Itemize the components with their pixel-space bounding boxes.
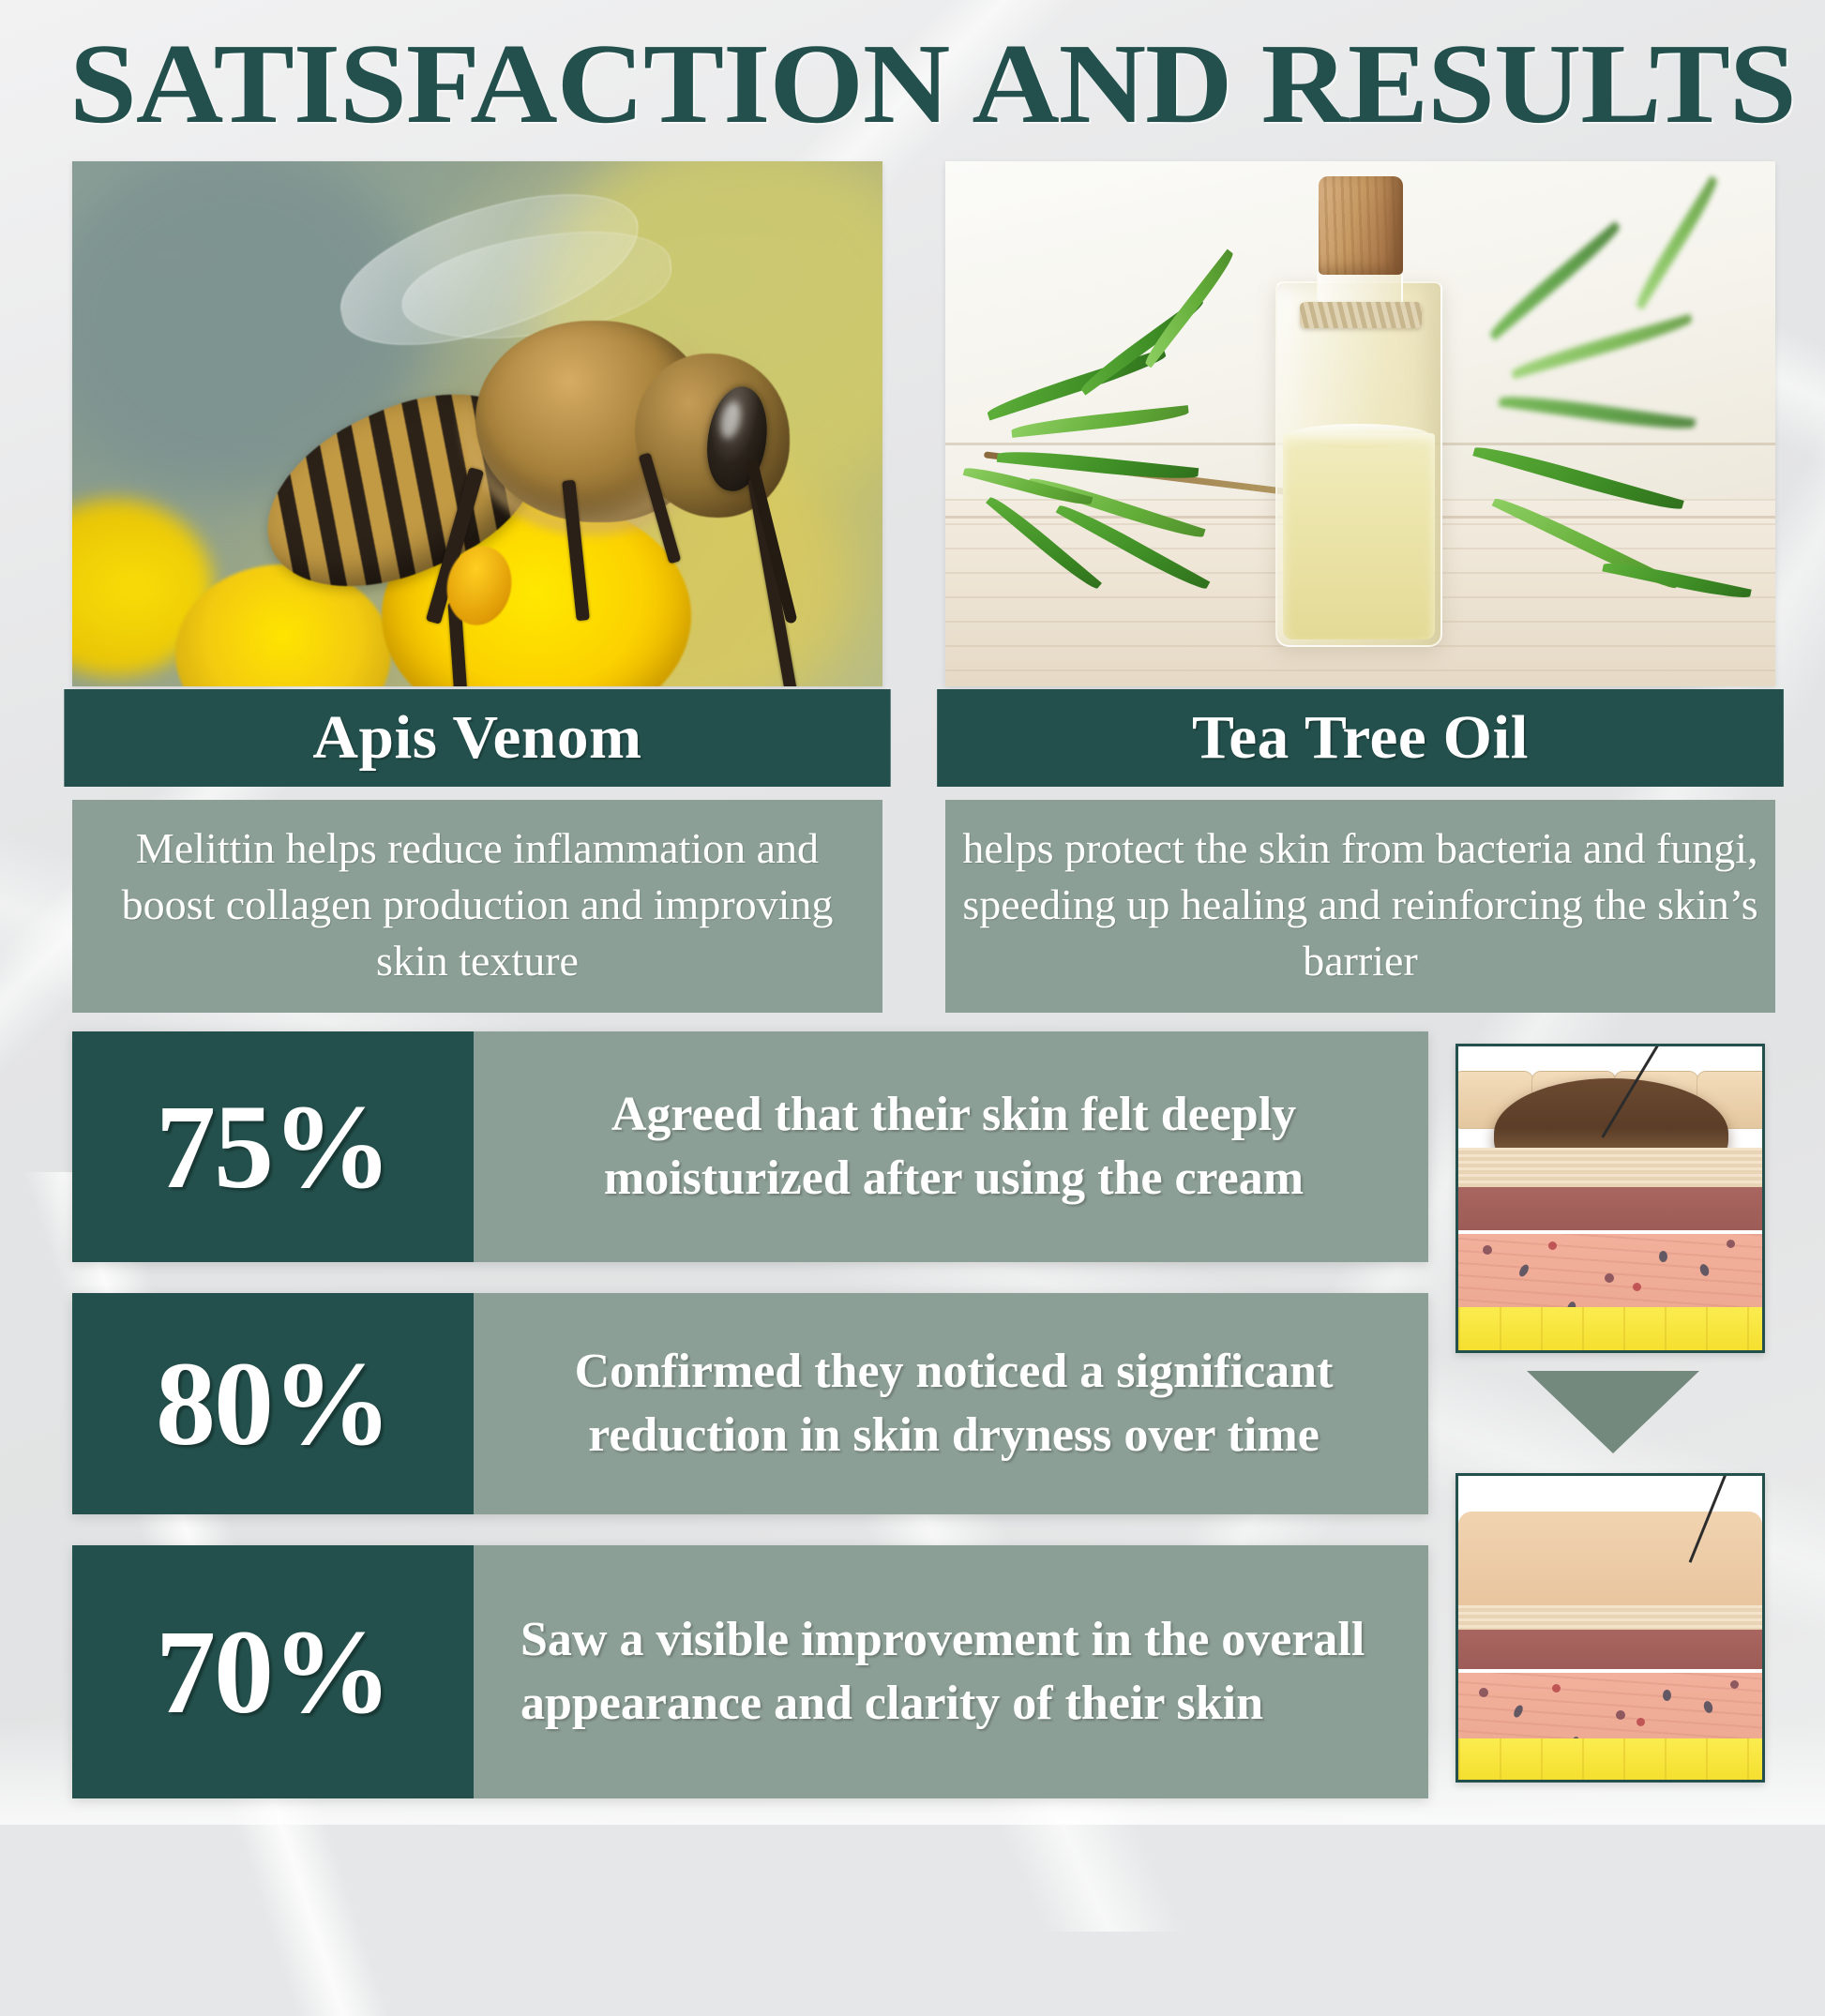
card-description-apis-venom: Melittin helps reduce inflammation and b… (72, 800, 882, 1013)
skin-capillary-dot (1636, 1718, 1645, 1726)
skin-capillary-dot (1483, 1245, 1492, 1255)
stat-percent-value: 70% (72, 1545, 474, 1798)
bee-illustration (260, 264, 785, 574)
tea-leaf-12 (1499, 391, 1696, 433)
stat-row: 75% Agreed that their skin felt deeply m… (72, 1031, 1428, 1262)
stat-row: 70% Saw a visible improvement in the ove… (72, 1545, 1428, 1798)
oil-liquid (1283, 433, 1435, 639)
skin-subcutaneous-fat (1458, 1738, 1762, 1780)
down-arrow-icon (1527, 1371, 1699, 1453)
skin-dermis-layer (1458, 1630, 1762, 1669)
skin-deep-dermis (1458, 1673, 1762, 1744)
infographic-root: SATISFACTION AND RESULTS (0, 0, 1825, 1825)
skin-epidermis-smooth (1458, 1512, 1762, 1613)
bee-photo (72, 161, 882, 686)
stat-description: Agreed that their skin felt deeply moist… (474, 1031, 1428, 1262)
card-description-tea-tree-oil: helps protect the skin from bacteria and… (945, 800, 1775, 1013)
skin-capillary-dot (1730, 1680, 1739, 1689)
skin-capillary-dot (1727, 1240, 1735, 1248)
skin-dermis-layer (1458, 1187, 1762, 1230)
skin-capillary-dot (1633, 1283, 1641, 1291)
tea-leaf-7 (1140, 249, 1237, 369)
card-title-apis-venom: Apis Venom (64, 689, 890, 787)
ingredient-card-tea-tree-oil: Tea Tree Oil helps protect the skin from… (945, 161, 1775, 1013)
stat-percent-value: 80% (72, 1293, 474, 1514)
ingredient-card-apis-venom: Apis Venom Melittin helps reduce inflamm… (72, 161, 882, 1013)
skin-capillary-dot (1616, 1710, 1625, 1720)
twine-wrap (1300, 302, 1422, 328)
tea-leaf-2 (1011, 405, 1190, 438)
page-title: SATISFACTION AND RESULTS (69, 32, 1825, 137)
tea-tree-oil-photo (945, 161, 1775, 686)
tea-leaf-10 (1486, 221, 1624, 340)
card-title-tea-tree-oil: Tea Tree Oil (937, 689, 1784, 787)
skin-capillary-dot (1605, 1273, 1614, 1283)
skin-diagram-after (1455, 1473, 1765, 1783)
skin-capillary-dot (1479, 1688, 1488, 1697)
stat-percent-value: 75% (72, 1031, 474, 1262)
oil-bottle (1275, 281, 1442, 647)
stat-row: 80% Confirmed they noticed a significant… (72, 1293, 1428, 1514)
stat-description: Confirmed they noticed a significant red… (474, 1293, 1428, 1514)
skin-capillary-dot (1659, 1251, 1667, 1262)
oil-surface-line (1287, 424, 1431, 448)
skin-diagram-before (1455, 1044, 1765, 1353)
skin-capillary-dot (1552, 1684, 1561, 1693)
skin-stratum-corneum (1458, 1148, 1762, 1189)
cork-stopper (1319, 176, 1403, 275)
skin-capillary-dot (1663, 1690, 1671, 1701)
tea-leaf-11 (1510, 314, 1694, 380)
tea-leaf-3 (997, 447, 1199, 483)
stat-description: Saw a visible improvement in the overall… (474, 1545, 1428, 1798)
skin-capillary-dot (1548, 1241, 1557, 1250)
tea-leaf-16 (1632, 175, 1723, 309)
skin-subcutaneous-fat (1458, 1307, 1762, 1350)
